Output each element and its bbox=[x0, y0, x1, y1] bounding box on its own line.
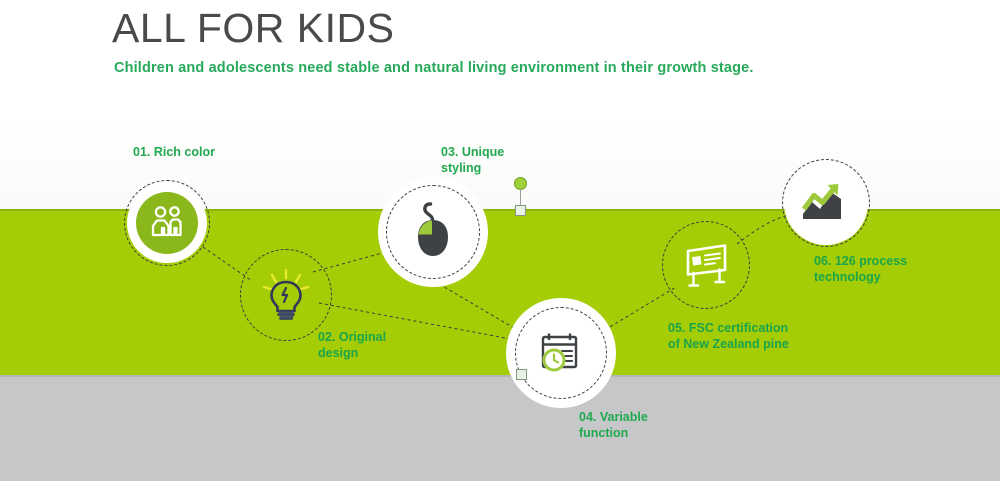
lightbulb-idea-icon bbox=[260, 267, 312, 323]
node-06-process-technology[interactable] bbox=[782, 159, 870, 247]
people-family-icon bbox=[148, 205, 186, 241]
infographic-canvas: ALL FOR KIDS Children and adolescents ne… bbox=[0, 0, 1000, 481]
node-03-label: 03. Unique styling bbox=[441, 144, 504, 176]
node-05-label: 05. FSC certification of New Zealand pin… bbox=[668, 320, 789, 352]
node-02-original-design[interactable] bbox=[240, 249, 332, 341]
node-04-label: 04. Variable function bbox=[579, 409, 648, 441]
node-04-variable-function[interactable] bbox=[515, 307, 607, 399]
billboard-presentation-icon bbox=[681, 240, 731, 290]
node-02-label: 02. Original design bbox=[318, 329, 386, 361]
node-01-disc bbox=[136, 192, 198, 254]
node-01-label: 01. Rich color bbox=[133, 144, 215, 160]
pin-marker-square bbox=[515, 205, 526, 216]
node-01-rich-color[interactable] bbox=[124, 180, 210, 266]
node-05-disc bbox=[678, 237, 734, 293]
node-06-label: 06. 126 process technology bbox=[814, 253, 907, 285]
node-02-disc bbox=[254, 263, 318, 327]
node-04-disc bbox=[535, 327, 587, 379]
calendar-clock-icon bbox=[537, 330, 585, 376]
node-05-fsc-certification[interactable] bbox=[662, 221, 750, 309]
growth-chart-icon bbox=[800, 181, 852, 225]
computer-mouse-icon bbox=[411, 201, 455, 263]
node-03-disc bbox=[403, 197, 463, 267]
baseline-square-marker bbox=[516, 369, 527, 380]
node-06-disc bbox=[800, 177, 852, 229]
node-03-unique-styling[interactable] bbox=[386, 185, 480, 279]
